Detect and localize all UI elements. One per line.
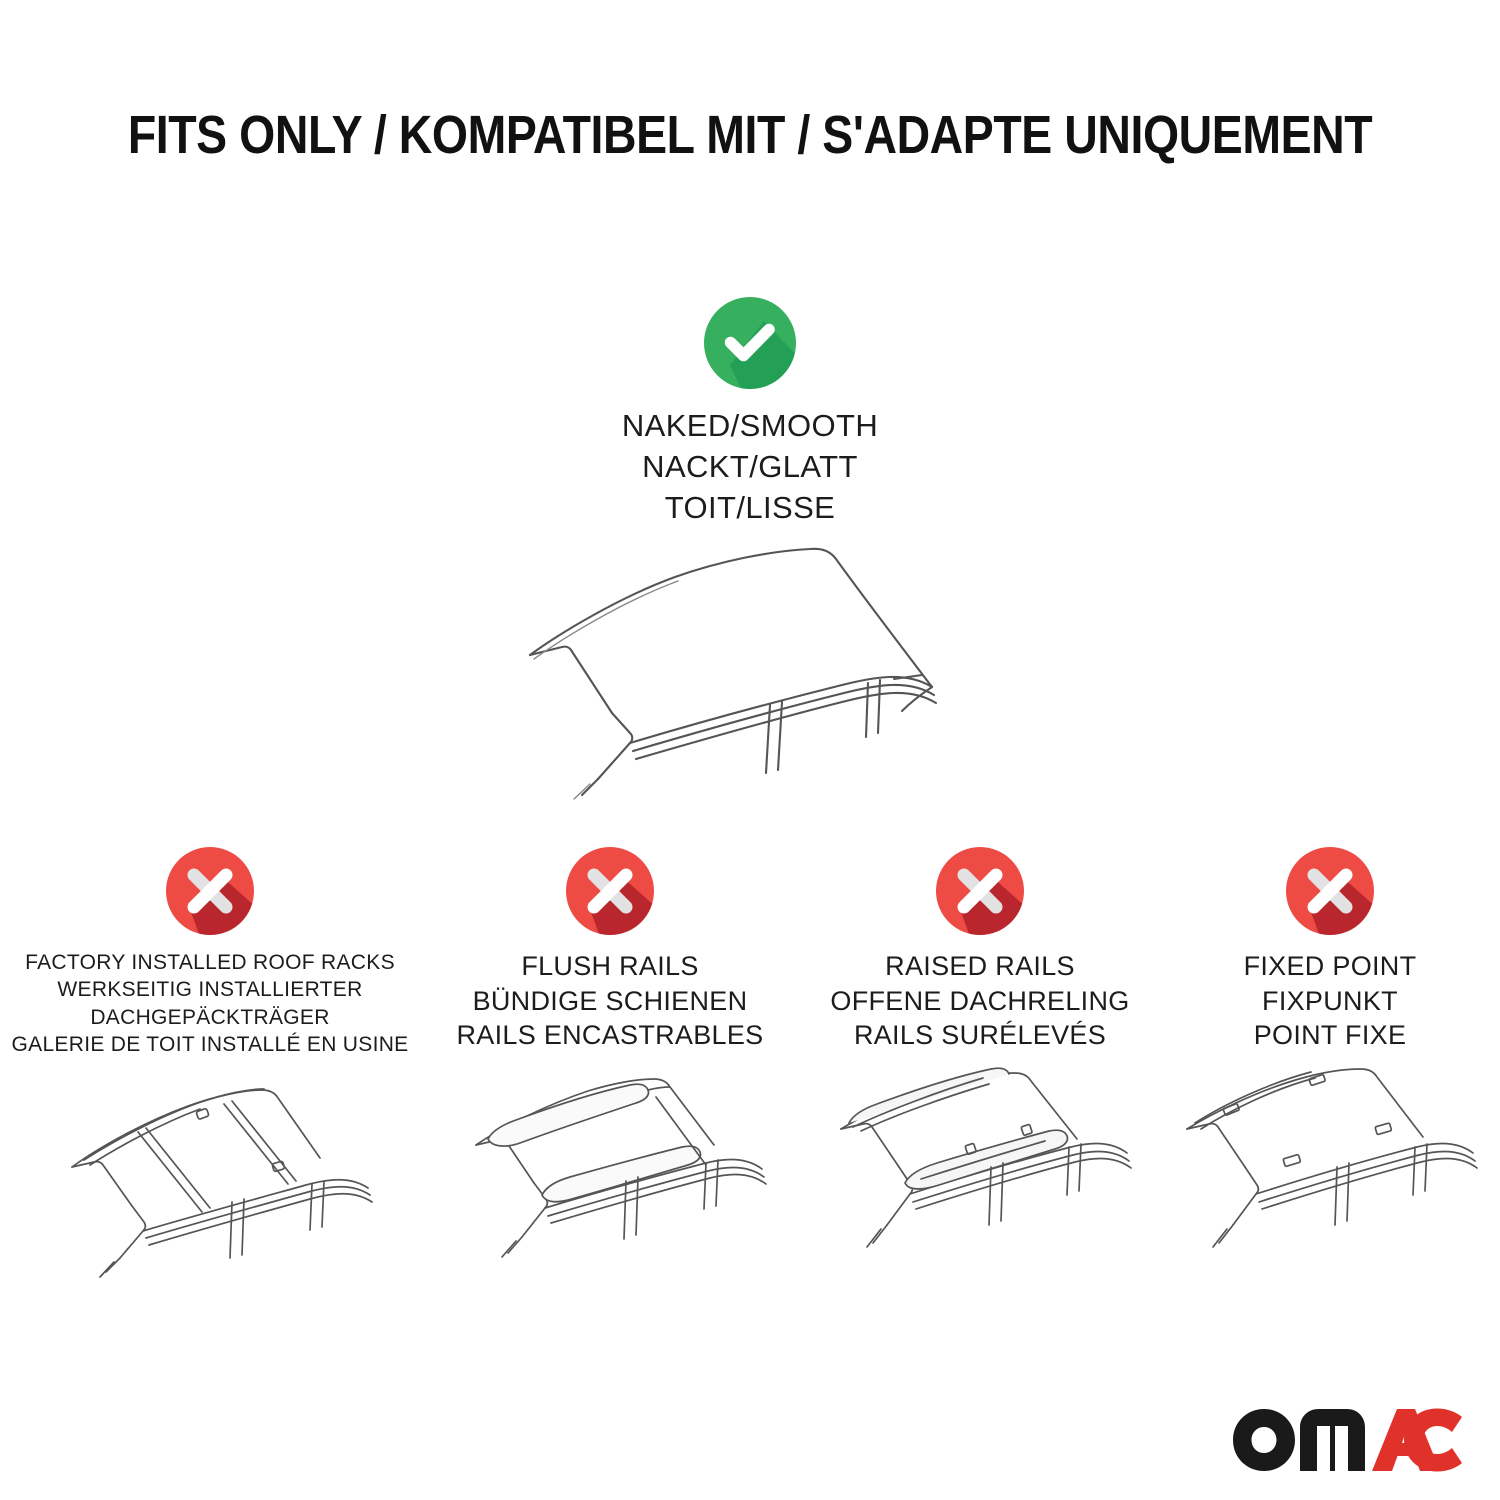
check-circle-icon — [702, 295, 798, 391]
logo-letter-m — [1300, 1409, 1365, 1471]
compatible-roof-type-block: NAKED/SMOOTH NACKT/GLATT TOIT/LISSE — [0, 295, 1500, 807]
raised-rails-label-en: RAISED RAILS — [830, 949, 1129, 984]
raised-rails-label-de: OFFENE DACHRELING — [830, 984, 1129, 1019]
cross-circle-icon — [564, 845, 656, 937]
incompatible-item-raised-rails: RAISED RAILS OFFENE DACHRELING RAILS SUR… — [800, 845, 1160, 1282]
car-roof-flush-rails-illustration — [430, 1067, 790, 1282]
car-roof-naked-smooth-illustration — [470, 537, 1030, 807]
incompatible-roof-types-grid: FACTORY INSTALLED ROOF RACKS WERKSEITIG … — [0, 845, 1500, 1287]
fixed-point-labels: FIXED POINT FIXPUNKT POINT FIXE — [1244, 949, 1417, 1053]
flush-rails-label-de: BÜNDIGE SCHIENEN — [456, 984, 763, 1019]
car-roof-raised-rails-illustration — [805, 1067, 1155, 1282]
compatible-label-fr: TOIT/LISSE — [622, 487, 878, 528]
factory-racks-label-de-1: WERKSEITIG INSTALLIERTER — [12, 976, 409, 1003]
incompatible-item-fixed-point: FIXED POINT FIXPUNKT POINT FIXE — [1160, 845, 1500, 1282]
flush-rails-label-en: FLUSH RAILS — [456, 949, 763, 984]
factory-racks-label-de-2: DACHGEPÄCKTRÄGER — [12, 1004, 409, 1031]
factory-racks-label-fr: GALERIE DE TOIT INSTALLÉ EN USINE — [12, 1031, 409, 1058]
compatible-labels: NAKED/SMOOTH NACKT/GLATT TOIT/LISSE — [622, 405, 878, 529]
compatible-label-de: NACKT/GLATT — [622, 446, 878, 487]
omac-logo — [1230, 1405, 1465, 1477]
incompatible-item-flush-rails: FLUSH RAILS BÜNDIGE SCHIENEN RAILS ENCAS… — [420, 845, 800, 1282]
page-title: FITS ONLY / KOMPATIBEL MIT / S'ADAPTE UN… — [105, 104, 1395, 166]
compatible-label-en: NAKED/SMOOTH — [622, 405, 878, 446]
flush-rails-labels: FLUSH RAILS BÜNDIGE SCHIENEN RAILS ENCAS… — [456, 949, 763, 1053]
cross-circle-icon — [164, 845, 256, 937]
cross-circle-icon — [934, 845, 1026, 937]
factory-racks-labels: FACTORY INSTALLED ROOF RACKS WERKSEITIG … — [12, 949, 409, 1058]
cross-circle-icon — [1284, 845, 1376, 937]
fixed-point-label-fr: POINT FIXE — [1244, 1018, 1417, 1053]
fixed-point-label-de: FIXPUNKT — [1244, 984, 1417, 1019]
fixed-point-label-en: FIXED POINT — [1244, 949, 1417, 984]
incompatible-item-factory-racks: FACTORY INSTALLED ROOF RACKS WERKSEITIG … — [0, 845, 420, 1287]
factory-racks-label-en: FACTORY INSTALLED ROOF RACKS — [12, 949, 409, 976]
car-roof-fixed-point-illustration — [1165, 1067, 1495, 1282]
raised-rails-labels: RAISED RAILS OFFENE DACHRELING RAILS SUR… — [830, 949, 1129, 1053]
car-roof-factory-racks-illustration — [20, 1072, 400, 1287]
flush-rails-label-fr: RAILS ENCASTRABLES — [456, 1018, 763, 1053]
raised-rails-label-fr: RAILS SURÉLEVÉS — [830, 1018, 1129, 1053]
logo-letter-o — [1233, 1409, 1295, 1471]
